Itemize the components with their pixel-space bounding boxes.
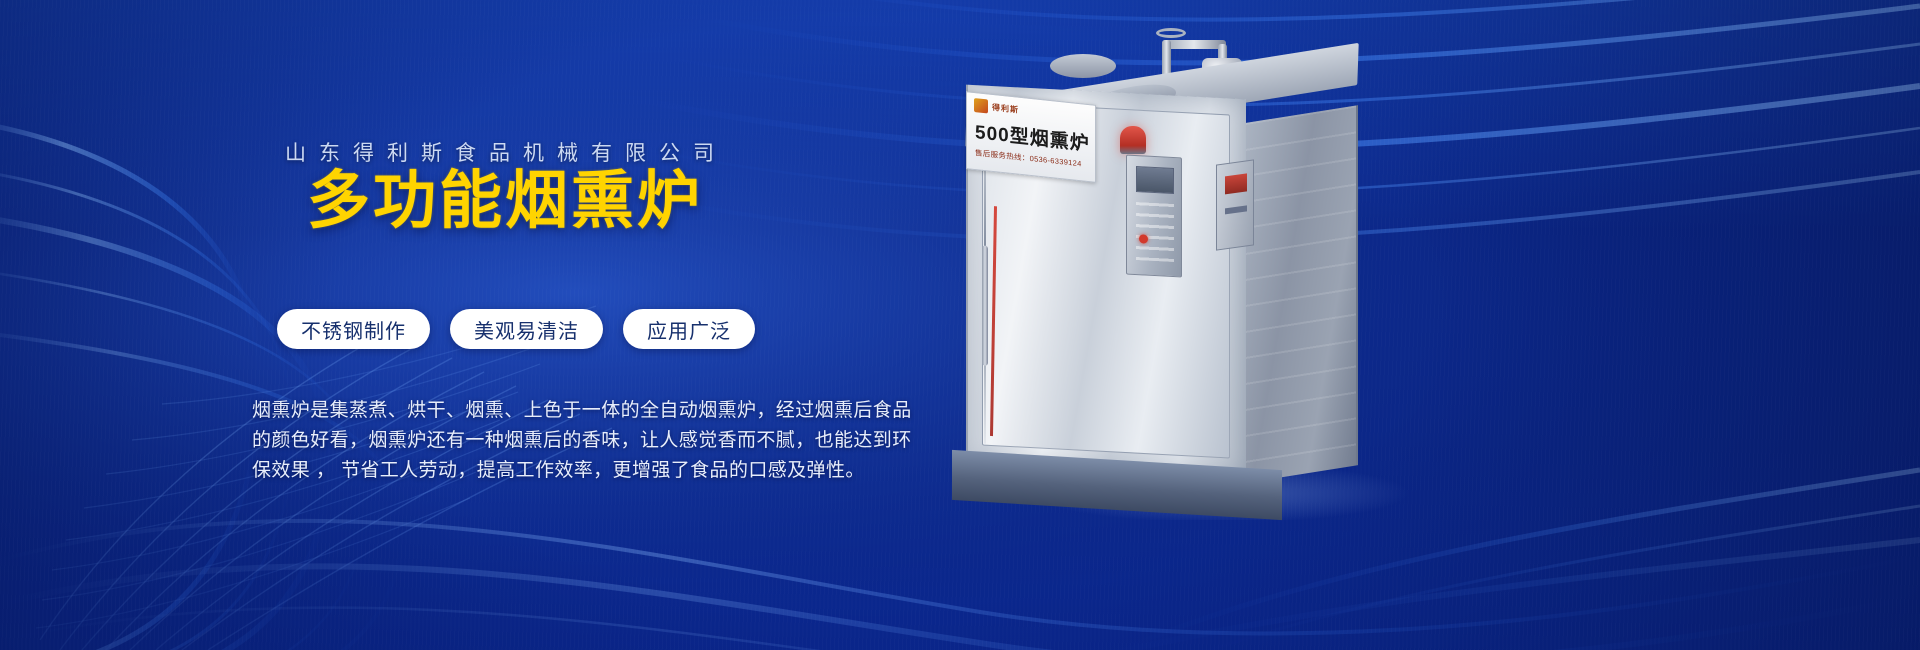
feature-pill-stainless[interactable]: 不锈钢制作 — [277, 309, 430, 349]
feature-pill-wide-use[interactable]: 应用广泛 — [623, 309, 755, 349]
side-panel-ribs — [1246, 105, 1356, 482]
power-indicator-icon — [1139, 234, 1148, 243]
feature-pill-group: 不锈钢制作 美观易清洁 应用广泛 — [277, 309, 755, 349]
nameplate-brand-row: 得利斯 — [974, 98, 1019, 117]
roof-drum — [1050, 54, 1116, 78]
brand-logo-icon — [974, 98, 988, 113]
page-title: 多功能烟熏炉 — [307, 168, 703, 234]
description-line-2: 的颜色好看，烟熏炉还有一种烟熏后的香味，让人感觉香而不腻，也能达到环 — [252, 426, 822, 456]
control-panel-secondary — [1216, 159, 1254, 250]
pipe-horizontal — [1162, 40, 1226, 49]
product-description: 烟熏炉是集蒸煮、烘干、烟熏、上色于一体的全自动烟熏炉，经过烟熏后食品 的颜色好看… — [252, 396, 822, 486]
product-nameplate: 得利斯 500型烟熏炉 售后服务热线：0536-6339124 — [966, 91, 1096, 183]
valve-handwheel-icon — [1156, 28, 1186, 38]
secondary-panel-display — [1225, 173, 1247, 194]
control-panel-main — [1126, 155, 1182, 278]
cabinet-side-panel — [1246, 105, 1358, 483]
company-name: 山东得利斯食品机械有限公司 — [285, 137, 727, 167]
description-line-3: 保效果 ， 节省工人劳动，提高工作效率，更增强了食品的口感及弹性。 — [252, 456, 822, 486]
secondary-panel-switch — [1225, 205, 1247, 214]
nameplate-brand: 得利斯 — [992, 101, 1019, 115]
warning-beacon-light — [1120, 126, 1146, 154]
hero-banner: 山东得利斯食品机械有限公司 多功能烟熏炉 不锈钢制作 美观易清洁 应用广泛 烟熏… — [0, 0, 1920, 650]
control-button-rows — [1136, 202, 1174, 262]
feature-pill-easy-clean[interactable]: 美观易清洁 — [450, 309, 603, 349]
banner-content: 山东得利斯食品机械有限公司 多功能烟熏炉 不锈钢制作 美观易清洁 应用广泛 烟熏… — [0, 0, 900, 650]
door-handle — [982, 246, 988, 366]
control-display-screen — [1136, 166, 1174, 194]
description-line-1: 烟熏炉是集蒸煮、烘干、烟熏、上色于一体的全自动烟熏炉，经过烟熏后食品 — [252, 396, 822, 426]
product-image-smokehouse-oven: 得利斯 500型烟熏炉 售后服务热线：0536-6339124 — [930, 40, 1490, 520]
